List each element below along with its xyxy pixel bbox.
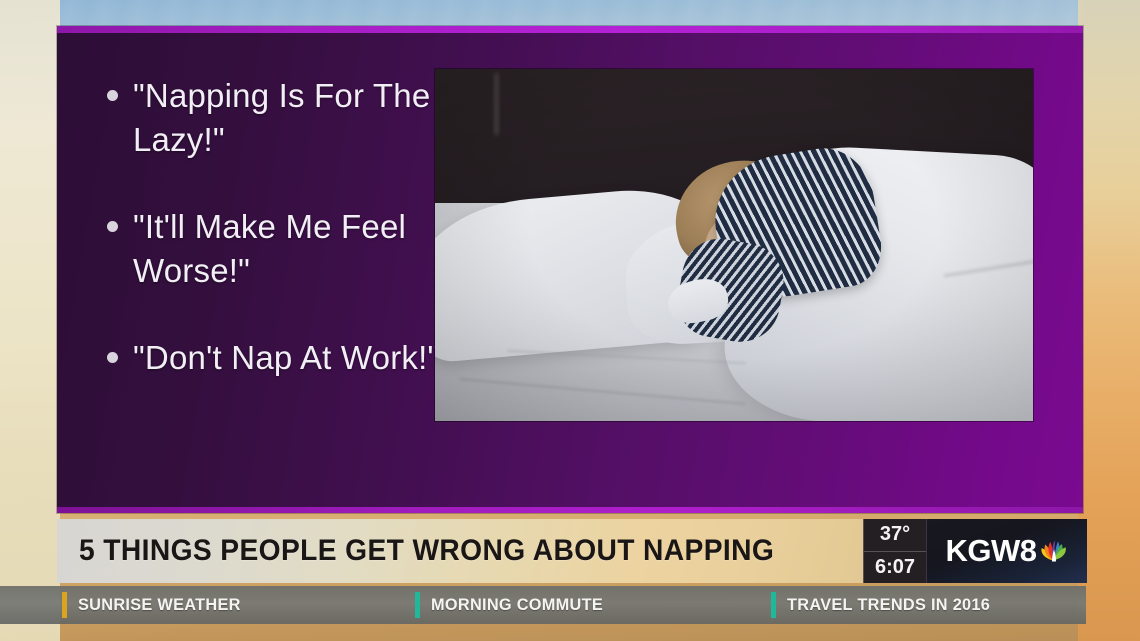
ticker-item-travel-trends[interactable]: TRAVEL TRENDS IN 2016 <box>771 586 999 624</box>
bullet-dot-icon <box>107 221 118 232</box>
station-logo: KGW8 <box>926 519 1087 583</box>
bullet-dot-icon <box>107 352 118 363</box>
ticker-item-morning-commute[interactable]: MORNING COMMUTE <box>415 586 610 624</box>
bullet-list: "Napping Is For The Lazy!" "It'll Make M… <box>107 74 457 424</box>
ticker-item-sunrise-weather[interactable]: SUNRISE WEATHER <box>62 586 247 624</box>
weather-time-panel: 37° 6:07 <box>863 519 926 583</box>
headline-panel: 5 THINGS PEOPLE GET WRONG ABOUT NAPPING <box>57 519 863 583</box>
graphic-slide: "Napping Is For The Lazy!" "It'll Make M… <box>57 26 1083 513</box>
list-item: "Napping Is For The Lazy!" <box>107 74 457 161</box>
list-item: "Don't Nap At Work!" <box>107 336 457 380</box>
ticker-accent-bar <box>62 592 67 618</box>
ticker-label: SUNRISE WEATHER <box>78 595 241 615</box>
background-sky-left <box>0 0 60 641</box>
clock-value: 6:07 <box>864 552 926 584</box>
temperature-value: 37° <box>864 519 926 552</box>
list-item: "It'll Make Me Feel Worse!" <box>107 205 457 292</box>
lower-third-bar: 5 THINGS PEOPLE GET WRONG ABOUT NAPPING … <box>57 519 1087 583</box>
bullet-dot-icon <box>107 90 118 101</box>
bullet-text: "It'll Make Me Feel Worse!" <box>133 205 457 292</box>
news-ticker: SUNRISE WEATHER MORNING COMMUTE TRAVEL T… <box>0 586 1086 624</box>
background-sky-right <box>1078 0 1140 641</box>
slide-top-border <box>57 26 1083 33</box>
slide-bottom-border <box>57 507 1083 513</box>
station-logo-text: KGW8 <box>946 533 1037 569</box>
ticker-accent-bar <box>771 592 776 618</box>
ticker-label: MORNING COMMUTE <box>431 595 603 615</box>
headline-text: 5 THINGS PEOPLE GET WRONG ABOUT NAPPING <box>79 534 774 568</box>
bullet-text: "Don't Nap At Work!" <box>133 336 439 380</box>
sleeping-person-photo <box>435 69 1033 421</box>
broadcast-screen: "Napping Is For The Lazy!" "It'll Make M… <box>0 0 1140 641</box>
nbc-peacock-icon <box>1039 537 1069 565</box>
bullet-text: "Napping Is For The Lazy!" <box>133 74 457 161</box>
ticker-label: TRAVEL TRENDS IN 2016 <box>787 595 990 615</box>
photo-vignette <box>435 69 1033 421</box>
ticker-accent-bar <box>415 592 420 618</box>
